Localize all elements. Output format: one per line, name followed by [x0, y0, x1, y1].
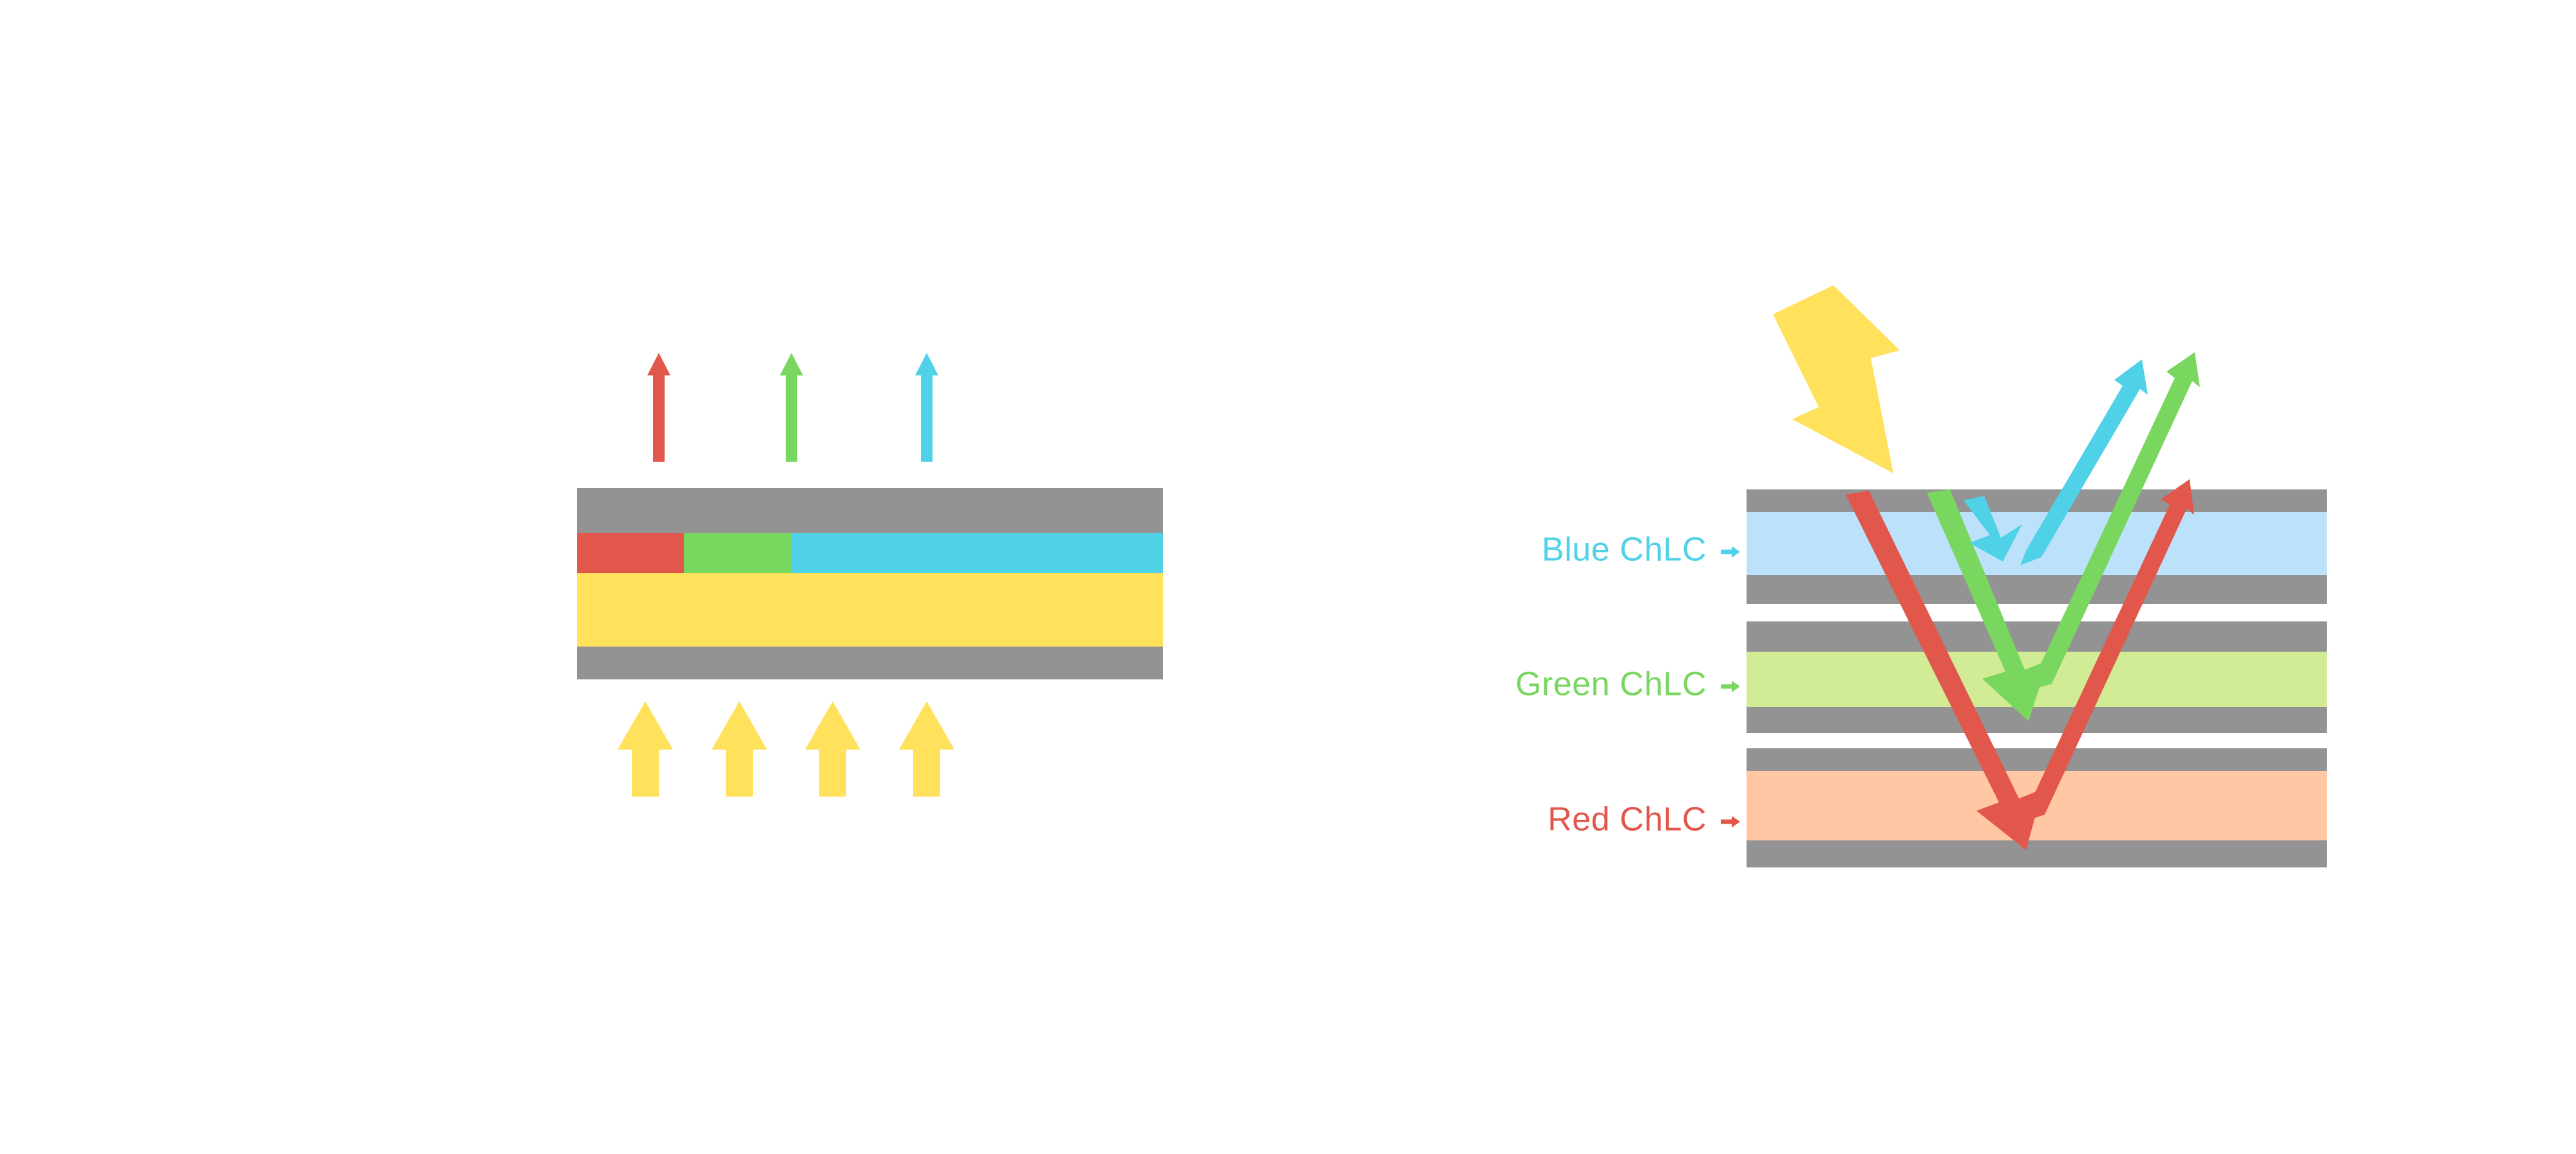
blue-filter	[792, 533, 1163, 573]
backlight-arrow-1	[618, 701, 673, 797]
blue-chlc-label: Blue ChLC	[1542, 531, 1707, 569]
yellow-emitter	[577, 573, 1163, 647]
red-chlc-label-arrow	[1721, 816, 1740, 828]
rgb-color-filter	[577, 533, 1163, 573]
green-chlc-label-arrow	[1721, 681, 1740, 692]
red-filter	[577, 533, 684, 573]
blue-chlc-label-arrow	[1721, 546, 1740, 558]
diagram-canvas: Blue ChLC Green ChLC Red ChLC	[0, 0, 2576, 1154]
left-panel	[577, 353, 1163, 797]
red-chlc-top-substrate	[1747, 748, 2327, 771]
bottom-electrode	[577, 647, 1163, 679]
left-in-arrows	[618, 701, 954, 797]
blue-chlc-bottom-substrate	[1747, 575, 2327, 604]
green-filter	[684, 533, 792, 573]
chlc-diagram-svg: Blue ChLC Green ChLC Red ChLC	[0, 0, 2576, 1154]
blue-out-arrow	[915, 353, 938, 462]
green-chlc-label: Green ChLC	[1515, 666, 1707, 703]
backlight-arrow-2	[712, 701, 767, 797]
backlight-arrow-3	[805, 701, 860, 797]
right-panel-labels: Blue ChLC Green ChLC Red ChLC	[1515, 531, 1740, 838]
red-out-arrow	[647, 353, 670, 462]
red-chlc-label: Red ChLC	[1548, 801, 1707, 838]
incident-white-light-arrow	[1773, 285, 1900, 473]
left-out-arrows	[647, 353, 938, 462]
red-chlc-bottom-substrate	[1747, 840, 2327, 867]
top-electrode	[577, 488, 1163, 533]
green-chlc-bottom-substrate	[1747, 707, 2327, 733]
right-panel: Blue ChLC Green ChLC Red ChLC	[1515, 285, 2327, 867]
blue-chlc-top-substrate	[1747, 489, 2327, 512]
green-out-arrow	[780, 353, 803, 462]
left-stack	[577, 488, 1163, 679]
green-chlc-top-substrate	[1747, 621, 2327, 652]
backlight-arrow-4	[899, 701, 954, 797]
